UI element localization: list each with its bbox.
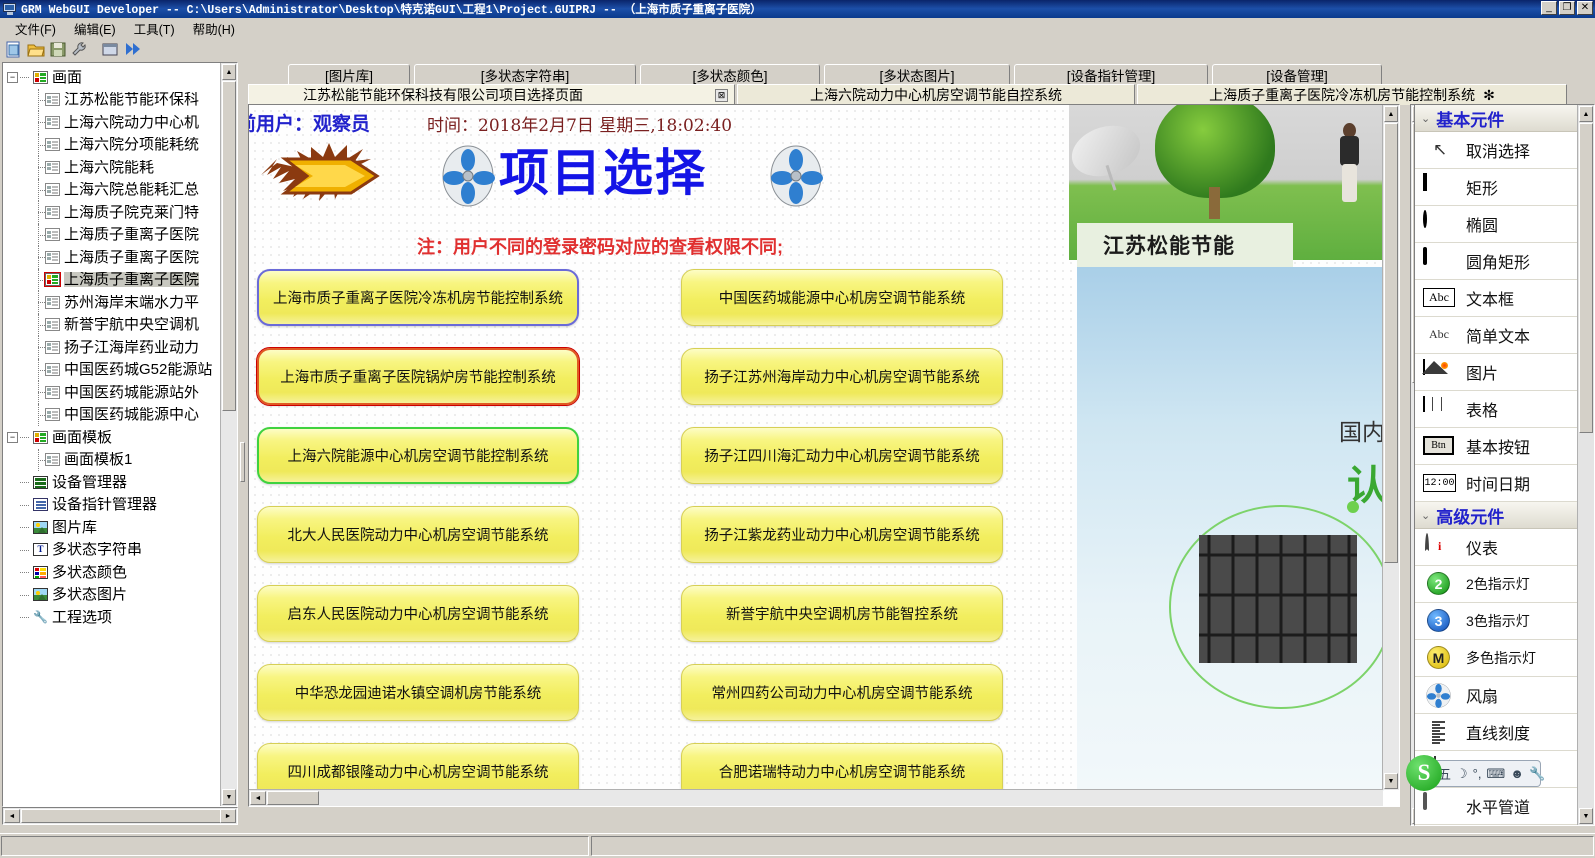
project-button[interactable]: 中国医药城能源中心机房空调节能系统 xyxy=(681,269,1003,326)
toolbar xyxy=(0,38,1595,60)
design-canvas-frame: 前用户：观察员 时间：2018年2月7日 星期三,18:02:40 xyxy=(248,104,1400,807)
tree-item-template[interactable]: 画面模板1 xyxy=(7,449,221,472)
satellite-dish-icon xyxy=(1069,117,1147,184)
promo-banner: 江苏松能节能 国内 认 xyxy=(1069,105,1384,791)
doc-tab-label: 上海质子重离子医院冷冻机房节能控制系统 xyxy=(1209,85,1475,105)
datetime-icon: 12:00 xyxy=(1423,471,1457,495)
rounded-rect-icon xyxy=(1423,249,1457,273)
window-controls: _ ❐ ✕ xyxy=(1541,1,1593,15)
modified-indicator: ✻ xyxy=(1483,87,1495,104)
simple-text-icon: Abc xyxy=(1423,323,1457,347)
project-button[interactable]: 合肥诺瑞特动力中心机房空调节能系统 xyxy=(681,743,1003,791)
textbox-icon: Abc xyxy=(1423,286,1457,310)
tool-label: 椭圆 xyxy=(1466,212,1498,236)
tool-fan[interactable]: 风扇 xyxy=(1415,677,1594,714)
tool-deselect[interactable]: ↖ 取消选择 xyxy=(1415,132,1594,169)
device-pointer-icon xyxy=(33,498,48,511)
tree-group-templates[interactable]: − 画面模板 xyxy=(7,426,221,449)
tree-item-project-options[interactable]: 🔧 工程选项 xyxy=(7,606,221,629)
arrow-logo-icon xyxy=(259,141,389,211)
multistate-text-icon: T xyxy=(33,543,48,556)
menu-file[interactable]: 文件(F) xyxy=(6,17,65,40)
status-cell-left xyxy=(1,836,589,856)
maximize-button[interactable]: ❐ xyxy=(1559,1,1575,15)
tree-item-screen[interactable]: 新誉宇航中央空调机 xyxy=(7,314,221,337)
doc-tab[interactable]: 上海质子重离子医院冷冻机房节能控制系统 ✻ xyxy=(1137,84,1567,105)
design-canvas[interactable]: 前用户：观察员 时间：2018年2月7日 星期三,18:02:40 xyxy=(249,105,1384,791)
tree-item-label: 上海六院动力中心机 xyxy=(64,115,199,130)
tool-rectangle[interactable]: 矩形 xyxy=(1415,169,1594,206)
app-icon xyxy=(3,3,17,15)
tree-item-device-manager[interactable]: 设备管理器 xyxy=(7,471,221,494)
project-tree-panel: − 画面 江苏松能节能环保科 上海六院动力中心机 上海六院分项能耗统 上海六院能… xyxy=(2,62,238,807)
tree-item-screen[interactable]: 中国医药城能源站外 xyxy=(7,381,221,404)
ime-user-icon[interactable]: ☻ xyxy=(1510,766,1524,781)
tree-item-screen[interactable]: 上海六院分项能耗统 xyxy=(7,134,221,157)
tool-horizontal-pipe[interactable]: 水平管道 xyxy=(1415,788,1594,825)
tool-label: 时间日期 xyxy=(1466,471,1530,495)
tool-label: 水平管道 xyxy=(1466,794,1530,818)
tree-item-screen[interactable]: 扬子江海岸药业动力 xyxy=(7,336,221,359)
tree-trunk-graphic xyxy=(1209,187,1220,219)
palette-vertical-scrollbar[interactable]: ▲ ▼ xyxy=(1577,105,1594,825)
image-library-icon xyxy=(33,521,48,534)
person-graphic xyxy=(1337,123,1363,203)
palette-group-basic-header[interactable]: ⌄ 基本元件 xyxy=(1415,105,1594,132)
tree-graphic xyxy=(1155,105,1275,198)
tool-label: 多色指示灯 xyxy=(1466,648,1536,668)
screen-icon xyxy=(45,273,60,286)
screen-icon xyxy=(45,386,60,399)
open-folder-icon[interactable] xyxy=(26,40,46,59)
window-title-bar: GRM WebGUI Developer -- C:\Users\Adminis… xyxy=(0,0,1595,18)
status-bar xyxy=(0,833,1595,858)
multistate-image-icon xyxy=(33,588,48,601)
tool-label: 矩形 xyxy=(1466,175,1498,199)
tool-rounded-rect[interactable]: 圆角矩形 xyxy=(1415,243,1594,280)
tree-item-label: 多状态字符串 xyxy=(52,542,142,557)
tree-item-screen[interactable]: 上海质子重离子医院 xyxy=(7,246,221,269)
scroll-thumb-h[interactable] xyxy=(21,809,231,823)
horizontal-pipe-icon xyxy=(1423,794,1457,818)
category-tab-strip: [图片库] [多状态字符串] [多状态颜色] [多状态图片] [设备指针管理] … xyxy=(254,62,1594,84)
tool-label: 圆角矩形 xyxy=(1466,249,1530,273)
tree-group-label: 画面模板 xyxy=(52,430,112,445)
tree-item-screen[interactable]: 上海质子重离子医院 xyxy=(7,224,221,247)
run-icon[interactable] xyxy=(122,40,142,59)
project-options-icon: 🔧 xyxy=(33,611,48,624)
menu-help[interactable]: 帮助(H) xyxy=(184,17,244,40)
ime-toolbar[interactable]: S 五 ☽ °, ⌨ ☻ 🔧 xyxy=(1411,760,1541,787)
tool-basic-button[interactable]: Btn 基本按钮 xyxy=(1415,428,1594,465)
project-button[interactable]: 中华恐龙园迪诺水镇空调机房节能系统 xyxy=(257,664,579,721)
rectangle-icon xyxy=(1423,175,1457,199)
screen-icon xyxy=(45,138,60,151)
project-button[interactable]: 新誉宇航中央空调机房节能智控系统 xyxy=(681,585,1003,642)
tool-label: 表格 xyxy=(1466,397,1498,421)
tree-group-label: 画面 xyxy=(52,70,82,85)
project-button[interactable]: 上海市质子重离子医院锅炉房节能控制系统 xyxy=(257,348,579,405)
panel-splitter[interactable] xyxy=(239,62,247,825)
current-user-label: 前用户：观察员 xyxy=(249,109,370,136)
element-palette-panel: ⌄ 基本元件 ↖ 取消选择 矩形 椭圆 圆角矩形 Abc 文本框 Abc 简单文… xyxy=(1414,104,1595,826)
fan-icon xyxy=(769,145,823,207)
screen-icon xyxy=(45,93,60,106)
ime-keyboard-icon[interactable]: ⌨ xyxy=(1486,766,1505,782)
tool-picture[interactable]: 图片 xyxy=(1415,354,1594,391)
screen-icon xyxy=(45,408,60,421)
scroll-left-button[interactable]: ◄ xyxy=(4,809,20,823)
tool-three-color-lamp[interactable]: 3 3色指示灯 xyxy=(1415,603,1594,640)
ime-tools-icon[interactable]: 🔧 xyxy=(1529,766,1545,782)
save-icon[interactable] xyxy=(48,40,68,59)
promo-brand-bar: 江苏松能节能 xyxy=(1077,223,1293,267)
three-color-lamp-icon: 3 xyxy=(1423,609,1457,633)
tree-item-multistate-text[interactable]: T 多状态字符串 xyxy=(7,539,221,562)
screen-icon xyxy=(45,318,60,331)
tool-label: 3色指示灯 xyxy=(1466,611,1530,631)
expander-icon[interactable]: − xyxy=(7,72,18,83)
project-button[interactable]: 常州四药公司动力中心机房空调节能系统 xyxy=(681,664,1003,721)
project-button[interactable]: 扬子江苏州海岸动力中心机房空调节能系统 xyxy=(681,348,1003,405)
tree-item-label: 上海质子重离子医院 xyxy=(64,250,199,265)
tree-item-screen-selected[interactable]: 上海质子重离子医院 xyxy=(7,269,221,292)
device-manager-icon xyxy=(33,476,48,489)
tool-multi-color-lamp[interactable]: M 多色指示灯 xyxy=(1415,640,1594,677)
palette-group-title: 高级元件 xyxy=(1436,503,1504,528)
chevron-down-icon[interactable]: ⌄ xyxy=(1421,509,1430,522)
tree-item-screen[interactable]: 上海六院动力中心机 xyxy=(7,111,221,134)
screen-icon xyxy=(45,453,60,466)
tree-item-screen[interactable]: 上海质子院克莱门特 xyxy=(7,201,221,224)
project-button[interactable]: 上海市质子重离子医院冷冻机房节能控制系统 xyxy=(257,269,579,326)
tree-item-label: 上海质子重离子医院 xyxy=(64,272,199,287)
project-button-column-left: 上海市质子重离子医院冷冻机房节能控制系统 上海市质子重离子医院锅炉房节能控制系统… xyxy=(257,269,579,791)
scroll-right-button[interactable]: ► xyxy=(220,809,236,823)
tab-device-pointer-mgmt[interactable]: [设备指针管理] xyxy=(1014,64,1208,84)
tree-item-label: 扬子江海岸药业动力 xyxy=(64,340,199,355)
menu-edit[interactable]: 编辑(E) xyxy=(65,17,125,40)
scroll-left-button[interactable]: ◄ xyxy=(250,791,266,805)
fan-icon xyxy=(1423,683,1457,707)
close-icon[interactable]: ⊠ xyxy=(715,89,728,102)
tree-item-screen[interactable]: 江苏松能节能环保科 xyxy=(7,89,221,112)
chevron-down-icon[interactable]: ⌄ xyxy=(1421,112,1430,125)
permission-note: 注：用户不同的登录密码对应的查看权限不同; xyxy=(417,233,783,259)
tree-group-screens[interactable]: − 画面 xyxy=(7,66,221,89)
tool-simple-text[interactable]: Abc 简单文本 xyxy=(1415,317,1594,354)
tree-item-multistate-color[interactable]: 多状态颜色 xyxy=(7,561,221,584)
tree-item-label: 中国医药城能源站外 xyxy=(64,385,199,400)
tree-item-label: 新誉宇航中央空调机 xyxy=(64,317,199,332)
table-icon xyxy=(1423,397,1457,421)
tree-item-label: 画面模板1 xyxy=(64,452,132,467)
status-cell-right xyxy=(591,836,1594,856)
tab-multistate-color[interactable]: [多状态颜色] xyxy=(640,64,820,84)
screen-group-icon xyxy=(33,71,48,84)
screen-icon xyxy=(45,363,60,376)
tab-multistate-image[interactable]: [多状态图片] xyxy=(824,64,1010,84)
tree-item-label: 设备指针管理器 xyxy=(52,497,157,512)
tree-item-label: 上海六院能耗 xyxy=(64,160,154,175)
doc-tab-label: 江苏松能节能环保科技有限公司项目选择页面 xyxy=(303,85,583,105)
screen-icon xyxy=(45,161,60,174)
tool-label: 取消选择 xyxy=(1466,138,1530,162)
doc-tab[interactable]: 上海六院动力中心机房空调节能自控系统 xyxy=(737,84,1135,105)
tab-multistate-text[interactable]: [多状态字符串] xyxy=(414,64,636,84)
screen-icon xyxy=(45,183,60,196)
project-button[interactable]: 扬子江四川海汇动力中心机房空调节能系统 xyxy=(681,427,1003,484)
tool-label: 直线刻度 xyxy=(1466,720,1530,744)
palette-group-title: 基本元件 xyxy=(1436,106,1504,131)
tree-horizontal-scrollbar[interactable]: ◄ ► xyxy=(2,807,238,825)
tool-vertical-pipe[interactable]: 垂直管道 xyxy=(1415,825,1594,826)
ellipse-icon xyxy=(1423,212,1457,236)
settings-wrench-icon[interactable] xyxy=(70,40,90,59)
tree-item-label: 多状态图片 xyxy=(52,587,127,602)
tool-ellipse[interactable]: 椭圆 xyxy=(1415,206,1594,243)
tree-item-image-library[interactable]: 图片库 xyxy=(7,516,221,539)
promo-line1: 国内 xyxy=(1339,413,1384,447)
tab-image-library[interactable]: [图片库] xyxy=(288,64,410,84)
linear-scale-icon xyxy=(1423,720,1457,744)
expander-icon[interactable]: − xyxy=(7,432,18,443)
build-icon[interactable] xyxy=(100,40,120,59)
menu-tools[interactable]: 工具(T) xyxy=(125,17,184,40)
tool-label: 基本按钮 xyxy=(1466,434,1530,458)
fan-icon xyxy=(441,145,495,207)
doc-tab-label: 上海六院动力中心机房空调节能自控系统 xyxy=(810,85,1062,105)
tree-item-screen[interactable]: 苏州海岸末端水力平 xyxy=(7,291,221,314)
tab-device-mgmt[interactable]: [设备管理] xyxy=(1212,64,1382,84)
canvas-horizontal-scrollbar[interactable]: ◄ xyxy=(249,789,1383,806)
project-button[interactable]: 四川成都银隆动力中心机房空调节能系统 xyxy=(257,743,579,791)
project-tree: − 画面 江苏松能节能环保科 上海六院动力中心机 上海六院分项能耗统 上海六院能… xyxy=(3,63,221,629)
promo-brand-text: 江苏松能节能 xyxy=(1103,230,1235,260)
tree-item-label: 中国医药城G52能源站 xyxy=(64,362,212,377)
tree-item-label: 中国医药城能源中心 xyxy=(64,407,199,422)
palette-group-advanced-header[interactable]: ⌄ 高级元件 xyxy=(1415,502,1594,529)
scroll-up-button[interactable]: ▲ xyxy=(222,64,236,80)
tree-item-label: 上海质子重离子医院 xyxy=(64,227,199,242)
tree-vertical-scrollbar[interactable]: ▲ ▼ xyxy=(220,63,237,806)
tool-label: 2色指示灯 xyxy=(1466,574,1530,594)
menu-bar: 文件(F) 编辑(E) 工具(T) 帮助(H) xyxy=(0,18,1595,38)
cursor-icon: ↖ xyxy=(1423,132,1457,168)
close-button[interactable]: ✕ xyxy=(1577,1,1593,15)
tool-datetime[interactable]: 12:00 时间日期 xyxy=(1415,465,1594,502)
tree-item-device-pointer-manager[interactable]: 设备指针管理器 xyxy=(7,494,221,517)
tree-item-multistate-image[interactable]: 多状态图片 xyxy=(7,584,221,607)
scroll-down-button[interactable]: ▼ xyxy=(1384,773,1398,789)
canvas-vertical-scrollbar[interactable]: ▲ ▼ xyxy=(1382,105,1399,790)
tool-linear-scale[interactable]: 直线刻度 xyxy=(1415,714,1594,751)
tree-item-label: 苏州海岸末端水力平 xyxy=(64,295,199,310)
tool-label: 风扇 xyxy=(1466,683,1498,707)
project-button[interactable]: 扬子江紫龙药业动力中心机房空调节能系统 xyxy=(681,506,1003,563)
promo-equipment-graphic xyxy=(1199,535,1357,663)
screen-icon xyxy=(45,296,60,309)
tool-gauge[interactable]: 仪表 xyxy=(1415,529,1594,566)
doc-tab-active[interactable]: 江苏松能节能环保科技有限公司项目选择页面 ⊠ xyxy=(248,84,735,105)
document-tab-strip: 江苏松能节能环保科技有限公司项目选择页面 ⊠ 上海六院动力中心机房空调节能自控系… xyxy=(248,83,1595,105)
ime-punctuation-icon[interactable]: °, xyxy=(1473,766,1482,781)
new-file-icon[interactable] xyxy=(4,40,24,59)
multistate-color-icon xyxy=(33,566,48,579)
project-button-column-right: 中国医药城能源中心机房空调节能系统 扬子江苏州海岸动力中心机房空调节能系统 扬子… xyxy=(681,269,1003,791)
tree-item-screen[interactable]: 中国医药城能源中心 xyxy=(7,404,221,427)
scroll-thumb[interactable] xyxy=(1384,123,1398,563)
tool-textbox[interactable]: Abc 文本框 xyxy=(1415,280,1594,317)
tool-label: 仪表 xyxy=(1466,535,1498,559)
minimize-button[interactable]: _ xyxy=(1541,1,1557,15)
project-button[interactable]: 上海六院能源中心机房空调节能控制系统 xyxy=(257,427,579,484)
tool-label: 图片 xyxy=(1466,360,1498,384)
scroll-up-button[interactable]: ▲ xyxy=(1579,106,1593,122)
sogou-logo-icon[interactable]: S xyxy=(1406,755,1442,791)
screen-icon xyxy=(45,251,60,264)
scroll-up-button[interactable]: ▲ xyxy=(1384,106,1398,122)
gauge-icon xyxy=(1423,535,1457,559)
tree-item-screen[interactable]: 上海六院总能耗汇总 xyxy=(7,179,221,202)
tool-label: 文本框 xyxy=(1466,286,1514,310)
scroll-thumb[interactable] xyxy=(222,81,236,411)
tree-item-label: 上海六院总能耗汇总 xyxy=(64,182,199,197)
promo-body: 国内 认 xyxy=(1077,267,1384,791)
scroll-thumb-h[interactable] xyxy=(267,791,319,805)
screen-icon xyxy=(45,341,60,354)
page-title: 项目选择 xyxy=(499,133,707,205)
screen-icon xyxy=(45,228,60,241)
scroll-thumb[interactable] xyxy=(1579,123,1593,433)
tool-table[interactable]: 表格 xyxy=(1415,391,1594,428)
tree-item-label: 多状态颜色 xyxy=(52,565,127,580)
splitter-grip[interactable] xyxy=(240,442,245,482)
scroll-down-button[interactable]: ▼ xyxy=(1579,808,1593,824)
tree-item-screen[interactable]: 上海六院能耗 xyxy=(7,156,221,179)
tree-item-label: 设备管理器 xyxy=(52,475,127,490)
two-color-lamp-icon: 2 xyxy=(1423,572,1457,596)
editor-area: [图片库] [多状态字符串] [多状态颜色] [多状态图片] [设备指针管理] … xyxy=(248,62,1408,825)
multi-color-lamp-icon: M xyxy=(1423,646,1457,670)
screen-icon xyxy=(45,116,60,129)
project-button[interactable]: 北大人民医院动力中心机房空调节能系统 xyxy=(257,506,579,563)
screen-icon xyxy=(45,206,60,219)
tree-item-label: 上海质子院克莱门特 xyxy=(64,205,199,220)
tool-label: 简单文本 xyxy=(1466,323,1530,347)
window-title-text: GRM WebGUI Developer -- C:\Users\Adminis… xyxy=(21,1,762,17)
project-button[interactable]: 启东人民医院动力中心机房空调节能系统 xyxy=(257,585,579,642)
tool-two-color-lamp[interactable]: 2 2色指示灯 xyxy=(1415,566,1594,603)
ime-moon-icon[interactable]: ☽ xyxy=(1456,766,1468,782)
screen-group-icon xyxy=(33,431,48,444)
button-icon: Btn xyxy=(1423,434,1457,458)
picture-icon xyxy=(1423,360,1457,384)
scroll-down-button[interactable]: ▼ xyxy=(222,789,236,805)
tree-item-screen[interactable]: 中国医药城G52能源站 xyxy=(7,359,221,382)
tree-item-label: 江苏松能节能环保科 xyxy=(64,92,199,107)
tree-item-label: 工程选项 xyxy=(52,610,112,625)
tree-item-label: 图片库 xyxy=(52,520,97,535)
tree-item-label: 上海六院分项能耗统 xyxy=(64,137,199,152)
